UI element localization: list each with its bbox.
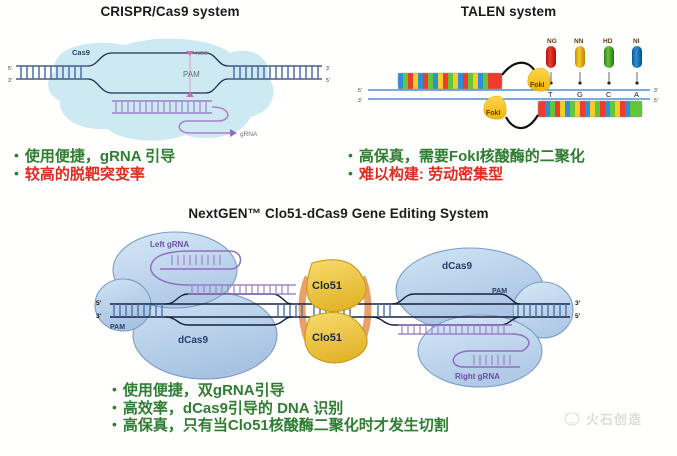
crispr-diagram: Cas9 5' 3' 3' 5' xyxy=(0,25,340,155)
talen-5prime-right: 5' xyxy=(654,98,658,104)
nextgen-3prime-left: 3' xyxy=(96,313,102,320)
ngg-label: NGG xyxy=(196,51,208,57)
bullet-item: • 使用便捷，双gRNA引导 xyxy=(112,382,449,400)
right-grna-label: Right gRNA xyxy=(455,372,500,381)
bullet-item: • 较高的脱靶突变率 xyxy=(14,166,175,184)
nextgen-bullets: • 使用便捷，双gRNA引导 • 高效率，dCas9引导的 DNA 识别 • 高… xyxy=(112,382,449,435)
clo51-top-label: Clo51 xyxy=(312,280,342,292)
base-label: A xyxy=(634,90,639,99)
rvd-label: NN xyxy=(574,38,584,45)
nextgen-3prime-right: 3' xyxy=(575,300,581,307)
bullet-item: • 高保真，需要FokI核酸酶的二聚化 xyxy=(348,148,585,166)
flint-logo-icon xyxy=(562,410,582,428)
talen-3prime-left: 3' xyxy=(358,98,362,104)
rvd-label: NI xyxy=(633,38,640,45)
bullet-text: 高保真，只有当Clo51核酸酶二聚化时才发生切割 xyxy=(123,417,449,435)
bullet-dot-icon: • xyxy=(112,417,117,432)
talen-5prime-left: 5' xyxy=(358,88,362,94)
bullet-item: • 高效率，dCas9引导的 DNA 识别 xyxy=(112,400,449,418)
bullet-text: 难以构建: 劳动密集型 xyxy=(359,166,503,184)
nextgen-5prime-right: 5' xyxy=(575,313,581,320)
left-grna-hybrid xyxy=(188,285,296,294)
rvd-swatch xyxy=(604,46,614,68)
rvd-label: NG xyxy=(547,38,557,45)
clo51-bottom-label: Clo51 xyxy=(312,332,342,344)
bullet-item: • 高保真，只有当Clo51核酸酶二聚化时才发生切割 xyxy=(112,417,449,435)
crispr-bullets: • 使用便捷，gRNA 引导 • 较高的脱靶突变率 xyxy=(14,148,175,183)
nextgen-5prime-left: 5' xyxy=(96,300,102,307)
crispr-panel-title: CRISPR/Cas9 system xyxy=(0,4,340,19)
grna-label: gRNA xyxy=(240,131,258,138)
pam-left-label: PAM xyxy=(110,324,125,331)
bullet-dot-icon: • xyxy=(14,148,19,163)
base-label: T xyxy=(548,90,553,99)
tal-array-top xyxy=(398,73,502,89)
bullet-text: 使用便捷，gRNA 引导 xyxy=(25,148,175,166)
base-label: G xyxy=(577,90,583,99)
talen-panel: TALEN system NG T NN xyxy=(340,4,677,155)
talen-3prime-right: 3' xyxy=(654,88,658,94)
talen-panel-title: TALEN system xyxy=(340,4,677,19)
crispr-5prime-right: 5' xyxy=(326,78,330,84)
fokl-label-top: FokI xyxy=(530,82,544,89)
base-label: C xyxy=(606,90,612,99)
crispr-3prime-left: 3' xyxy=(8,78,12,84)
bullet-dot-icon: • xyxy=(348,148,353,163)
rvd-swatch xyxy=(546,46,556,68)
rvd-swatch xyxy=(632,46,642,68)
rvd-label: HD xyxy=(603,38,613,45)
linker-bottom xyxy=(506,115,538,128)
bullet-text: 使用便捷，双gRNA引导 xyxy=(123,382,285,400)
nextgen-panel: NextGEN™ Clo51-dCas9 Gene Editing System xyxy=(0,206,677,390)
bullet-text: 较高的脱靶突变率 xyxy=(25,166,145,184)
watermark: 火石创造 xyxy=(562,409,642,428)
bullet-text: 高保真，需要FokI核酸酶的二聚化 xyxy=(359,148,585,166)
bullet-dot-icon: • xyxy=(112,400,117,415)
watermark-text: 火石创造 xyxy=(586,409,642,428)
bullet-dot-icon: • xyxy=(348,166,353,181)
tal-array-bottom xyxy=(538,101,642,117)
pam-label: PAM xyxy=(183,70,200,79)
nextgen-diagram: 5' 3' 3' 5' xyxy=(0,225,677,390)
nextgen-panel-title: NextGEN™ Clo51-dCas9 Gene Editing System xyxy=(0,206,677,221)
bullet-item: • 难以构建: 劳动密集型 xyxy=(348,166,585,184)
rvd-swatch xyxy=(575,46,585,68)
bullet-text: 高效率，dCas9引导的 DNA 识别 xyxy=(123,400,343,418)
dcas9-right-label: dCas9 xyxy=(442,261,472,272)
bullet-dot-icon: • xyxy=(14,166,19,181)
cas9-label: Cas9 xyxy=(72,48,90,57)
dcas9-left-label: dCas9 xyxy=(178,335,208,346)
left-grna-label: Left gRNA xyxy=(150,240,189,249)
talen-bullets: • 高保真，需要FokI核酸酶的二聚化 • 难以构建: 劳动密集型 xyxy=(348,148,585,183)
bullet-item: • 使用便捷，gRNA 引导 xyxy=(14,148,175,166)
bullet-dot-icon: • xyxy=(112,382,117,397)
crispr-5prime-left: 5' xyxy=(8,66,12,72)
crispr-3prime-right: 3' xyxy=(326,66,330,72)
talen-diagram: NG T NN G HD C NI A 5' 3' xyxy=(340,25,677,155)
crispr-panel: CRISPR/Cas9 system Cas9 5' 3' 3' 5' xyxy=(0,4,340,155)
fokl-label-bottom: FokI xyxy=(486,110,500,117)
pam-right-label: PAM xyxy=(492,288,507,295)
right-grna-stem-rungs xyxy=(474,355,510,365)
